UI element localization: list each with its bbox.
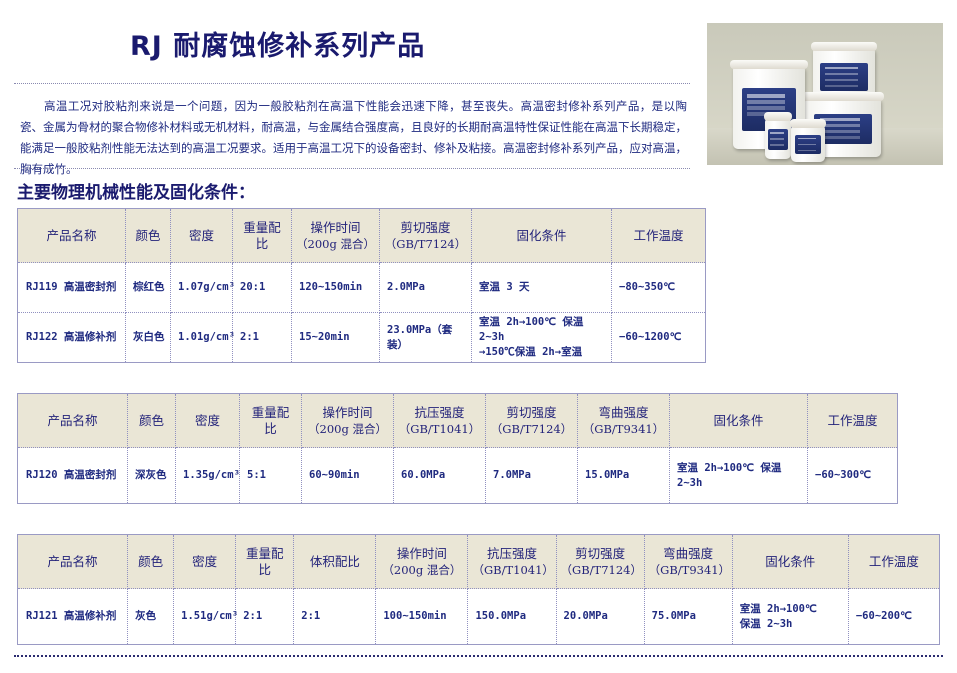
col-header-work-time: 操作时间 （200g 混合）: [302, 394, 394, 448]
cell-density: 1.01g/cm³: [171, 313, 233, 363]
col-header-working-temperature: 工作温度: [612, 209, 706, 263]
cell-working-temperature: −60~1200℃: [612, 313, 706, 363]
cell-cure-conditions: 室温 2h→100℃ 保温 2~3h: [670, 448, 808, 504]
cell-compressive-strength: 150.0MPa: [468, 589, 556, 645]
cell-weight-ratio: 20:1: [233, 263, 292, 313]
page-title: RJ 耐腐蚀修补系列产品: [130, 24, 425, 63]
col-header-density: 密度: [176, 394, 240, 448]
cell-product-name: RJ122 高温修补剂: [18, 313, 126, 363]
col-header-compressive-strength: 抗压强度 （GB/T1041）: [394, 394, 486, 448]
cell-weight-ratio: 5:1: [240, 448, 302, 504]
cell-shear-strength: 7.0MPa: [486, 448, 578, 504]
cell-work-time: 100~150min: [376, 589, 468, 645]
cell-cure-conditions: 室温 3 天: [472, 263, 612, 313]
cell-density: 1.07g/cm³: [171, 263, 233, 313]
cell-bending-strength: 15.0MPa: [578, 448, 670, 504]
col-header-product-name: 产品名称: [18, 535, 128, 589]
cell-working-temperature: −60~200℃: [848, 589, 939, 645]
cell-bending-strength: 75.0MPa: [644, 589, 732, 645]
cell-product-name: RJ119 高温密封剂: [18, 263, 126, 313]
cell-compressive-strength: 60.0MPa: [394, 448, 486, 504]
table-row: RJ121 高温修补剂 灰色 1.51g/cm³ 2:1 2:1 100~150…: [18, 589, 940, 645]
col-header-color: 颜色: [126, 209, 171, 263]
divider-top: [14, 83, 690, 84]
col-header-product-name: 产品名称: [18, 394, 128, 448]
col-header-working-temperature: 工作温度: [808, 394, 898, 448]
cell-volume-ratio: 2:1: [294, 589, 376, 645]
col-header-color: 颜色: [128, 394, 176, 448]
table-header-row: 产品名称 颜色 密度 重量配 比 操作时间 （200g 混合）: [18, 394, 898, 448]
col-header-product-name: 产品名称: [18, 209, 126, 263]
page-root: RJ 耐腐蚀修补系列产品 高温工况对胶粘剂来说是一个问题，因为一般胶粘剂在高温下…: [0, 0, 957, 673]
product-jar-small: [765, 119, 791, 159]
col-header-weight-ratio: 重量配 比: [233, 209, 292, 263]
product-photo: [706, 22, 944, 166]
cell-work-time: 120~150min: [292, 263, 380, 313]
cell-work-time: 60~90min: [302, 448, 394, 504]
col-header-weight-ratio: 重量配 比: [236, 535, 294, 589]
col-header-shear-strength: 剪切强度 （GB/T7124）: [380, 209, 472, 263]
spec-table-1: 产品名称 颜色 密度 重量配 比 操作时间 （200g 混合）: [17, 208, 706, 363]
cell-cure-conditions: 室温 2h→100℃ 保温 2~3h: [732, 589, 848, 645]
cell-weight-ratio: 2:1: [236, 589, 294, 645]
spec-table-2: 产品名称 颜色 密度 重量配 比 操作时间 （200g 混合）: [17, 393, 898, 504]
cell-shear-strength: 23.0MPa（套装）: [380, 313, 472, 363]
col-header-shear-strength: 剪切强度 （GB/T7124）: [556, 535, 644, 589]
cell-shear-strength: 20.0MPa: [556, 589, 644, 645]
cell-cure-conditions: 室温 2h→100℃ 保温 2~3h →150℃保温 2h→室温: [472, 313, 612, 363]
cell-color: 深灰色: [128, 448, 176, 504]
col-header-density: 密度: [171, 209, 233, 263]
col-header-work-time: 操作时间 （200g 混合）: [292, 209, 380, 263]
col-header-shear-strength: 剪切强度 （GB/T7124）: [486, 394, 578, 448]
cell-color: 棕红色: [126, 263, 171, 313]
col-header-bending-strength: 弯曲强度 （GB/T9341）: [644, 535, 732, 589]
product-jar-medium: [791, 126, 825, 162]
table-header-row: 产品名称 颜色 密度 重量配 比 体积配比: [18, 535, 940, 589]
cell-working-temperature: −80~350℃: [612, 263, 706, 313]
cell-weight-ratio: 2:1: [233, 313, 292, 363]
col-header-cure-conditions: 固化条件: [670, 394, 808, 448]
divider-bottom: [14, 168, 690, 169]
divider-footer: [14, 655, 943, 657]
col-header-cure-conditions: 固化条件: [472, 209, 612, 263]
table-row: RJ122 高温修补剂 灰白色 1.01g/cm³ 2:1 15~20min 2…: [18, 313, 706, 363]
cell-color: 灰白色: [126, 313, 171, 363]
table-header-row: 产品名称 颜色 密度 重量配 比 操作时间 （200g 混合）: [18, 209, 706, 263]
cell-working-temperature: −60~300℃: [808, 448, 898, 504]
col-header-working-temperature: 工作温度: [848, 535, 939, 589]
col-header-density: 密度: [174, 535, 236, 589]
spec-table-3: 产品名称 颜色 密度 重量配 比 体积配比: [17, 534, 940, 645]
table-row: RJ119 高温密封剂 棕红色 1.07g/cm³ 20:1 120~150mi…: [18, 263, 706, 313]
section-heading: 主要物理机械性能及固化条件：: [17, 178, 255, 203]
cell-product-name: RJ120 高温密封剂: [18, 448, 128, 504]
col-header-compressive-strength: 抗压强度 （GB/T1041）: [468, 535, 556, 589]
col-header-weight-ratio: 重量配 比: [240, 394, 302, 448]
cell-product-name: RJ121 高温修补剂: [18, 589, 128, 645]
cell-density: 1.51g/cm³: [174, 589, 236, 645]
table-row: RJ120 高温密封剂 深灰色 1.35g/cm³ 5:1 60~90min 6…: [18, 448, 898, 504]
cell-work-time: 15~20min: [292, 313, 380, 363]
col-header-bending-strength: 弯曲强度 （GB/T9341）: [578, 394, 670, 448]
col-header-color: 颜色: [128, 535, 174, 589]
cell-color: 灰色: [128, 589, 174, 645]
col-header-volume-ratio: 体积配比: [294, 535, 376, 589]
col-header-cure-conditions: 固化条件: [732, 535, 848, 589]
col-header-work-time: 操作时间 （200g 混合）: [376, 535, 468, 589]
cell-density: 1.35g/cm³: [176, 448, 240, 504]
cell-shear-strength: 2.0MPa: [380, 263, 472, 313]
